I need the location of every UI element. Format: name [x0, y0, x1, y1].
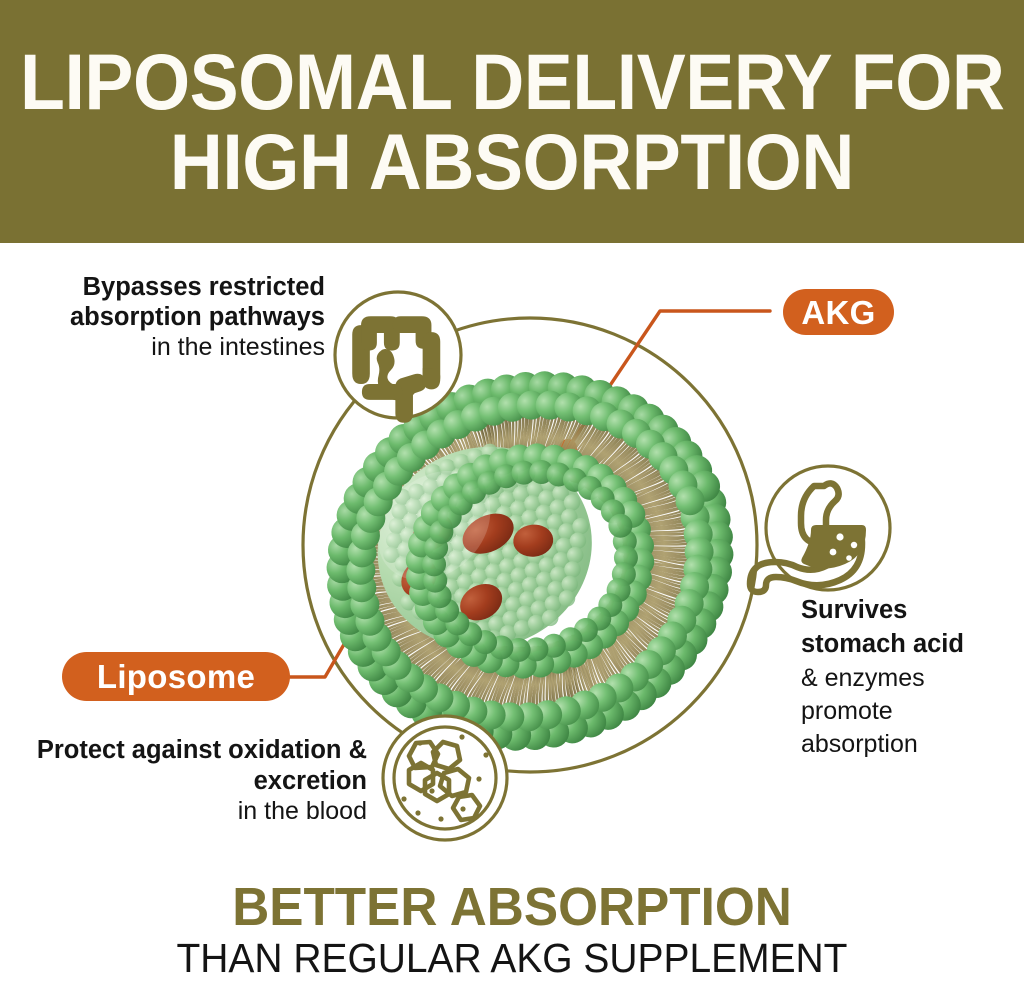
diagram-area: Bypasses restricted absorption pathways …: [0, 243, 1024, 868]
header-title-line2: HIGH ABSORPTION: [170, 123, 854, 200]
feature-stomach-text: Survives stomach acid & enzymes promote …: [801, 594, 1016, 762]
feature-blood-text: Protect against oxidation & excretion in…: [12, 735, 367, 826]
feature-blood-regular: in the blood: [12, 796, 367, 826]
feature-stomach-regular: & enzymes promote absorption: [801, 662, 1016, 762]
infographic-page: LIPOSOMAL DELIVERY FOR HIGH ABSORPTION: [0, 0, 1024, 997]
feature-blood-bold: Protect against oxidation & excretion: [12, 735, 367, 796]
feature-stomach-bold: Survives stomach acid: [801, 594, 1016, 662]
footer-headline: BETTER ABSORPTION: [26, 880, 999, 935]
callout-liposome-badge[interactable]: Liposome: [62, 652, 290, 701]
footer-subline: THAN REGULAR AKG SUPPLEMENT: [26, 937, 999, 980]
feature-intestine-text: Bypasses restricted absorption pathways …: [10, 273, 325, 362]
feature-intestine-bold: Bypasses restricted absorption pathways: [10, 273, 325, 333]
header-banner: LIPOSOMAL DELIVERY FOR HIGH ABSORPTION: [0, 0, 1024, 243]
callout-akg-badge[interactable]: AKG: [783, 289, 894, 335]
footer-area: BETTER ABSORPTION THAN REGULAR AKG SUPPL…: [0, 880, 1024, 997]
blood-cells-icon-badge: [383, 716, 507, 840]
header-title-line1: LIPOSOMAL DELIVERY FOR: [20, 43, 1004, 120]
stomach-icon-badge: [750, 466, 890, 592]
feature-intestine-regular: in the intestines: [10, 333, 325, 362]
